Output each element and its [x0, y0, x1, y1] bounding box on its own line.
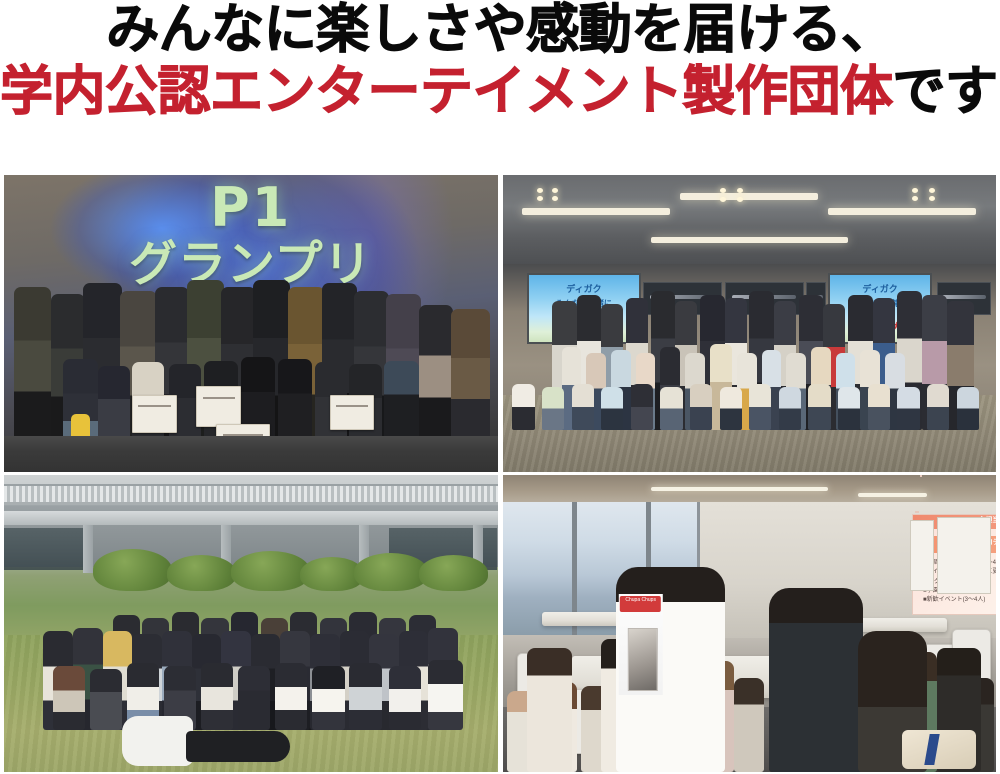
- projected-slide-main: [920, 475, 922, 477]
- ceiling: [503, 175, 997, 264]
- headline-line-2-tail: です！: [893, 61, 1000, 122]
- group-crowd: [503, 276, 997, 430]
- group-crowd-back-row: [4, 261, 498, 445]
- page-root: みんなに楽しさや感動を届ける、 学内公認エンターテイメント製作団体です！ P1 …: [0, 0, 1000, 774]
- person-lying-front: [122, 716, 290, 766]
- photo-summer-kids-event: ディガク みんなと一緒に 夏休み ディガク みんなと一緒に 夏休み: [503, 175, 997, 472]
- photo-campus-lawn-group: [4, 475, 498, 772]
- headline-emphasis-red: 学内公認エンターテイメント製作団体: [0, 61, 893, 122]
- foreground-person-dark-shirt: [769, 588, 863, 772]
- building-railing: [4, 484, 498, 505]
- photo-p1-grand-prix: P1 グランプリ: [4, 175, 498, 472]
- photo-planning-meeting: 主担当決め 主担当（プロデューサー） ■10周年記念イベント(3〜4人) ■アイ…: [503, 475, 997, 772]
- shirt-print-text: Chupa Chups: [620, 596, 661, 612]
- slide-board: [915, 511, 917, 513]
- stage-floor: [4, 436, 498, 472]
- projected-slide: [917, 511, 919, 513]
- shirt-graphic-print: Chupa Chups: [618, 594, 662, 695]
- handheld-sign: [196, 386, 240, 428]
- headline-line-2: 学内公認エンターテイメント製作団体です！: [0, 64, 1000, 120]
- headline-line-1: みんなに楽しさや感動を届ける、: [0, 2, 1000, 58]
- page-headline: みんなに楽しさや感動を届ける、 学内公認エンターテイメント製作団体です！: [0, 0, 1000, 119]
- handheld-sign: [132, 395, 176, 434]
- shirt-print-image: [628, 628, 657, 691]
- group-crowd: [4, 570, 498, 730]
- stage-title-line-1: P1: [4, 181, 498, 235]
- handheld-sign: [330, 395, 374, 431]
- floor-bag: [902, 730, 976, 769]
- photo-grid: P1 グランプリ: [4, 175, 996, 772]
- building-slab: [4, 511, 498, 526]
